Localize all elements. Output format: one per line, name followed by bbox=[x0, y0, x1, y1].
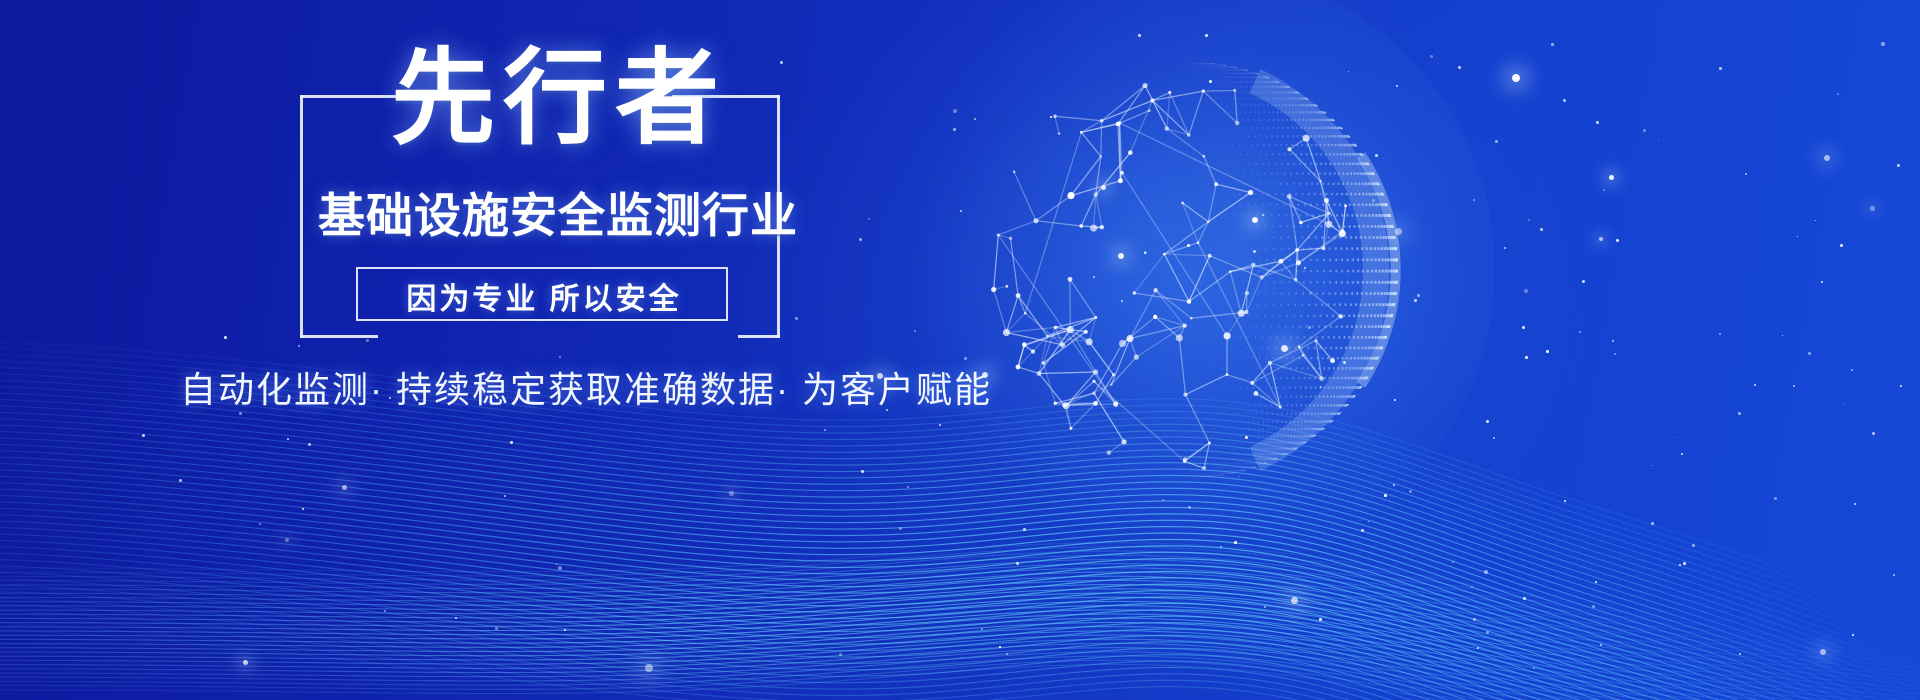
star-dot bbox=[1658, 140, 1659, 141]
bracket-frame-left-bottom bbox=[300, 335, 378, 338]
hero-banner: 先行者 基础设施安全监测行业 因为专业 所以安全 自动化监测· 持续稳定获取准确… bbox=[0, 0, 1920, 700]
star-dot bbox=[1603, 189, 1605, 191]
star-dot bbox=[1719, 67, 1722, 70]
star-dot bbox=[1430, 55, 1433, 58]
star-dot bbox=[1551, 43, 1554, 46]
star-dot bbox=[1495, 140, 1498, 143]
bracket-frame-left-side bbox=[300, 95, 303, 338]
star-dot bbox=[1596, 121, 1599, 124]
banner-slogan: 自动化监测· 持续稳定获取准确数据· 为客户赋能 bbox=[180, 368, 992, 412]
star-dot bbox=[1824, 155, 1830, 161]
globe-graphic bbox=[955, 35, 1425, 505]
star-dot bbox=[1837, 93, 1839, 95]
wireframe-globe-icon bbox=[955, 35, 1425, 505]
banner-tagline: 因为专业 所以安全 bbox=[358, 269, 730, 323]
headline-block: 先行者 基础设施安全监测行业 因为专业 所以安全 bbox=[300, 95, 780, 335]
star-dot bbox=[780, 61, 783, 64]
bracket-frame-right-bottom bbox=[738, 335, 780, 338]
star-dot bbox=[1815, 220, 1816, 221]
banner-headline: 先行者 bbox=[344, 47, 774, 151]
star-dot bbox=[1881, 42, 1885, 46]
star-dot bbox=[868, 218, 870, 220]
banner-subheadline: 基础设施安全监测行业 bbox=[318, 190, 788, 242]
star-dot bbox=[1897, 164, 1900, 167]
star-dot bbox=[1528, 219, 1530, 221]
star-dot bbox=[1458, 66, 1461, 69]
star-dot bbox=[1563, 99, 1566, 102]
star-dot bbox=[1745, 173, 1747, 175]
star-dot bbox=[1870, 206, 1875, 211]
star-dot bbox=[1512, 74, 1520, 82]
tagline-box: 因为专业 所以安全 bbox=[356, 267, 728, 321]
star-dot bbox=[1609, 175, 1614, 180]
star-dot bbox=[1643, 129, 1646, 132]
